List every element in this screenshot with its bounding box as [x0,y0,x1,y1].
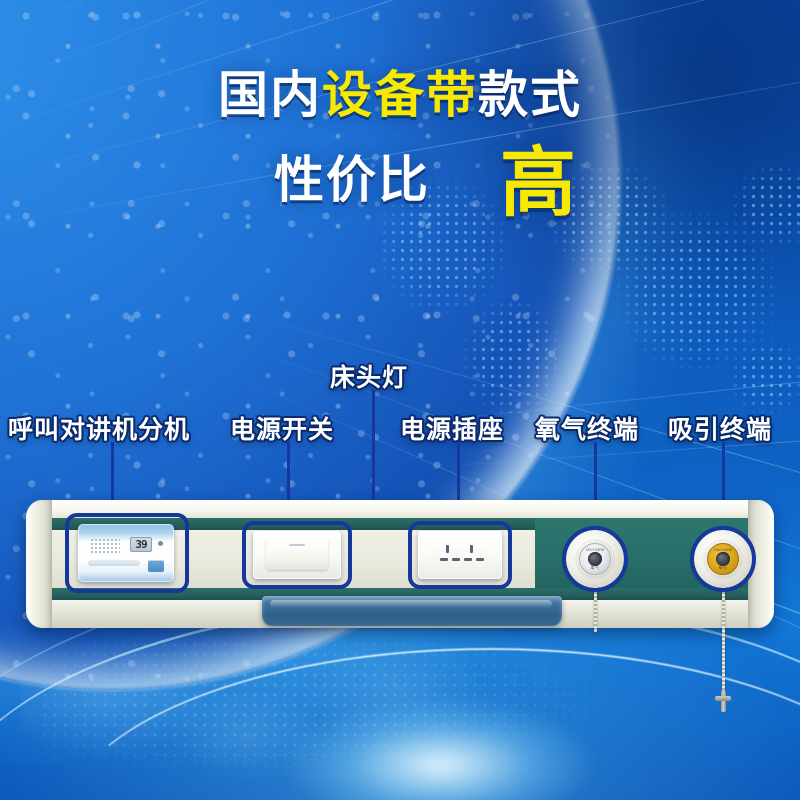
callout-label-oxygen: 氧气终端 [535,410,639,446]
callout-label-intercom: 呼叫对讲机分机 [8,410,190,446]
bed-lamp-gloss [270,600,552,608]
chain-cross-pendant [715,690,731,712]
highlight-box-switch [242,521,352,589]
oxygen-terminal-chain [594,586,597,632]
callout-label-suction: 吸引终端 [668,410,772,446]
callout-label-socket: 电源插座 [400,410,504,446]
headline-line-1: 国内设备带款式 [0,70,800,120]
highlight-circle-oxygen [562,526,628,592]
bed-lamp-diffuser[interactable] [262,596,562,626]
pendant-horizontal-bar [715,696,731,701]
headline-text-gao: 高 [500,146,576,222]
callout-label-switch: 电源开关 [230,410,334,446]
headline-line-2: 性价比 高 [0,142,800,218]
pendant-vertical-bar [721,690,726,712]
highlight-box-socket [408,521,512,589]
highlight-box-intercom [65,513,189,593]
headline-text-kuanshi: 款式 [478,67,582,123]
highlight-circle-suction [690,526,756,592]
panel-end-cap-left [26,500,52,628]
suction-terminal-chain [722,586,725,696]
headline-text-xingjiabi: 性价比 [274,155,430,205]
light-line [0,0,800,61]
callout-label-bed-lamp: 床头灯 [330,358,408,394]
headline-text-shebeidai: 设备带 [322,67,478,123]
headline-block: 国内设备带款式 性价比 高 [0,70,800,218]
headline-text-guonei: 国内 [218,67,322,123]
